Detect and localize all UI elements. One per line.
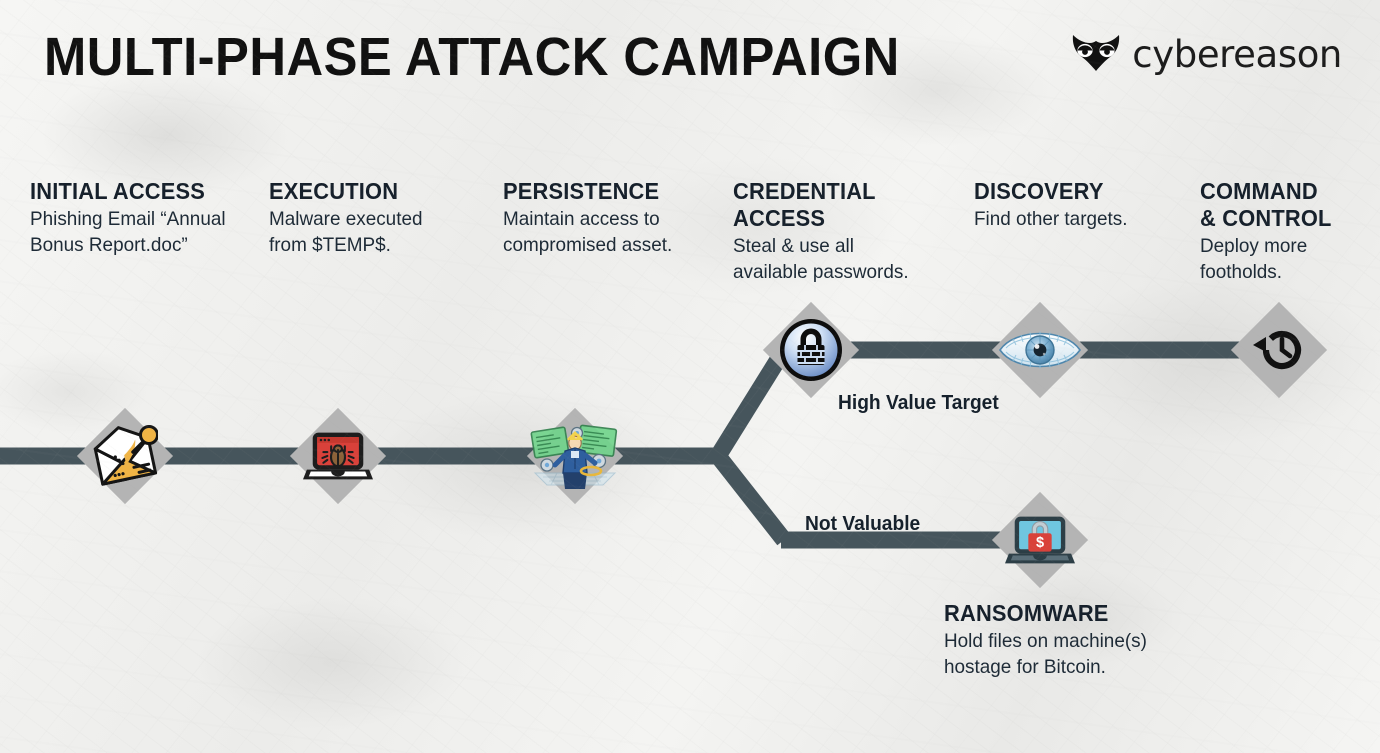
phase-body: Find other targets. (974, 207, 1168, 233)
phase-body: Hold files on machine(s) hostage for Bit… (944, 629, 1153, 680)
phase-heading: RANSOMWARE (944, 600, 1148, 627)
node-initial-access[interactable] (77, 408, 173, 504)
phase-label-persistence: PERSISTENCE Maintain access to compromis… (503, 178, 698, 259)
phase-heading: DISCOVERY (974, 178, 1164, 205)
laptop-bug-icon (303, 421, 373, 491)
phase-body: Deploy more footholds. (1200, 234, 1355, 285)
phase-label-command-and-control: COMMAND & CONTROL Deploy more footholds. (1200, 178, 1360, 286)
node-execution[interactable] (290, 408, 386, 504)
node-ransomware[interactable]: $ (992, 492, 1088, 588)
phase-body: Malware executed from $TEMP$. (269, 207, 463, 258)
phase-label-credential-access: CREDENTIAL ACCESS Steal & use all availa… (733, 178, 938, 286)
node-discovery[interactable] (992, 302, 1088, 398)
phase-body: Maintain access to compromised asset. (503, 207, 692, 258)
node-persistence[interactable] (527, 408, 623, 504)
infographic-canvas: MULTI-PHASE ATTACK CAMPAIGN cybereason (0, 0, 1380, 753)
phase-heading: CREDENTIAL ACCESS (733, 178, 876, 232)
laptop-ransom-lock-icon: $ (1005, 505, 1075, 575)
branch-label-not-valuable: Not Valuable (805, 513, 920, 536)
svg-text:$: $ (1036, 535, 1044, 551)
phishing-envelope-hook-icon (90, 421, 160, 491)
connector-fork-lower-diagonal (718, 456, 784, 540)
node-command-and-control[interactable] (1231, 302, 1327, 398)
branch-label-high-value-target: High Value Target (838, 392, 999, 415)
phase-heading: INITIAL ACCESS (30, 178, 234, 205)
phase-label-ransomware: RANSOMWARE Hold files on machine(s) host… (944, 600, 1159, 681)
padlock-keepass-icon (776, 315, 846, 385)
phase-label-discovery: DISCOVERY Find other targets. (974, 178, 1174, 233)
operator-screens-icon (529, 417, 621, 495)
phase-label-execution: EXECUTION Malware executed from $TEMP$. (269, 178, 469, 259)
node-credential-access[interactable] (763, 302, 859, 398)
phase-heading: EXECUTION (269, 178, 459, 205)
phase-heading: COMMAND & CONTROL (1200, 178, 1338, 232)
phase-heading: PERSISTENCE (503, 178, 688, 205)
eye-icon (997, 320, 1083, 380)
phase-body: Phishing Email “Annual Bonus Report.doc” (30, 207, 239, 258)
attack-flow-connectors (0, 0, 1380, 753)
phase-body: Steal & use all available passwords. (733, 234, 932, 285)
clock-history-icon (1244, 315, 1314, 385)
phase-label-initial-access: INITIAL ACCESS Phishing Email “Annual Bo… (30, 178, 245, 259)
